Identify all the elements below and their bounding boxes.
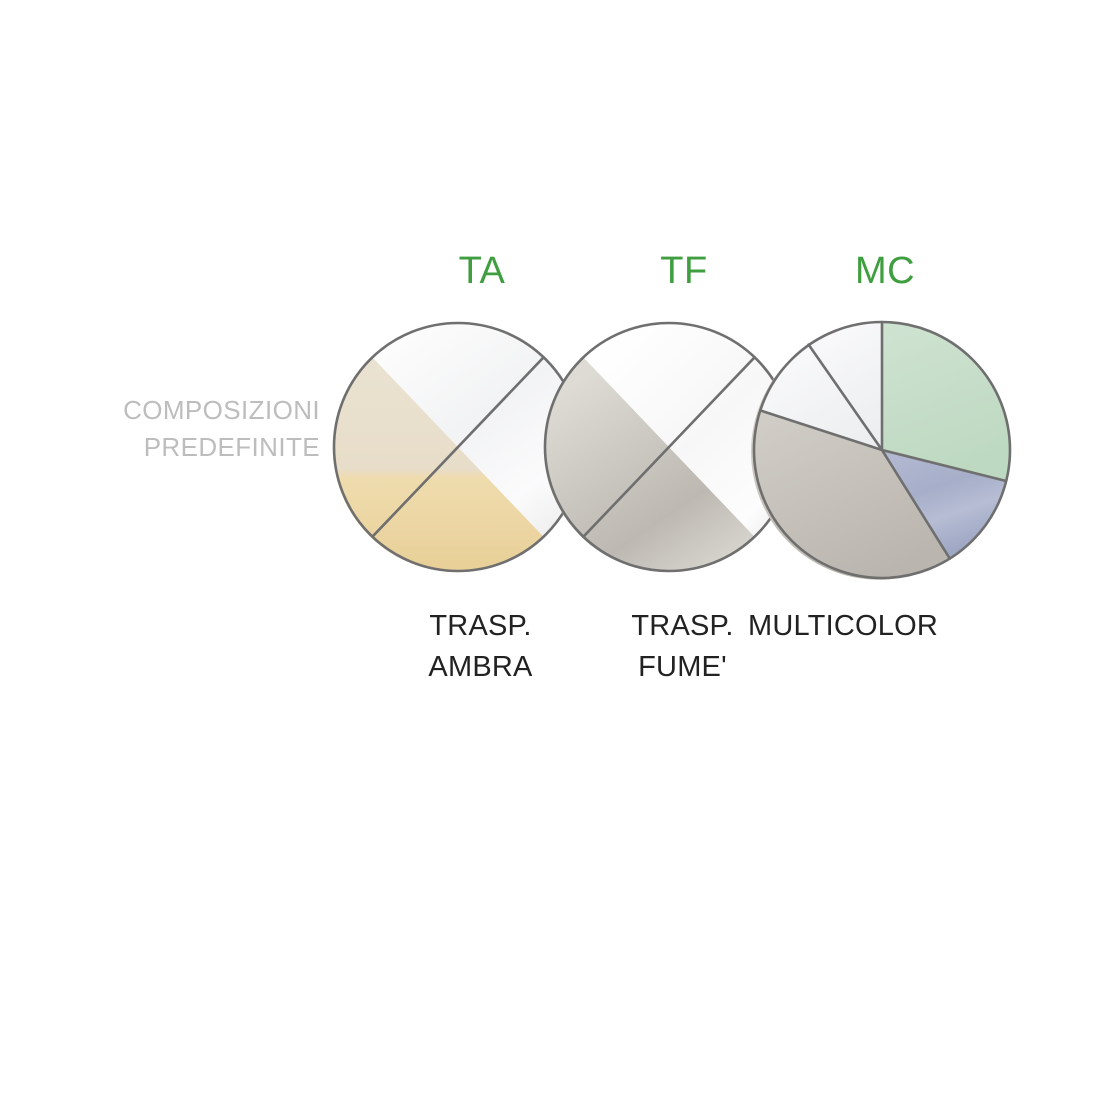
swatch-code-mc: MC [805,252,965,290]
swatch-disc-mc[interactable] [751,322,1010,580]
swatch-name-ta: TRASP. AMBRA [378,606,583,688]
swatch-code-ta: TA [402,252,562,290]
diagram-canvas: COMPOSIZIONI PREDEFINITE TA TF MC [0,0,1100,1100]
swatch-code-tf: TF [604,252,764,290]
swatch-discs [0,0,1100,1100]
section-caption: COMPOSIZIONI PREDEFINITE [20,392,320,466]
swatch-name-mc: MULTICOLOR [748,606,1013,647]
